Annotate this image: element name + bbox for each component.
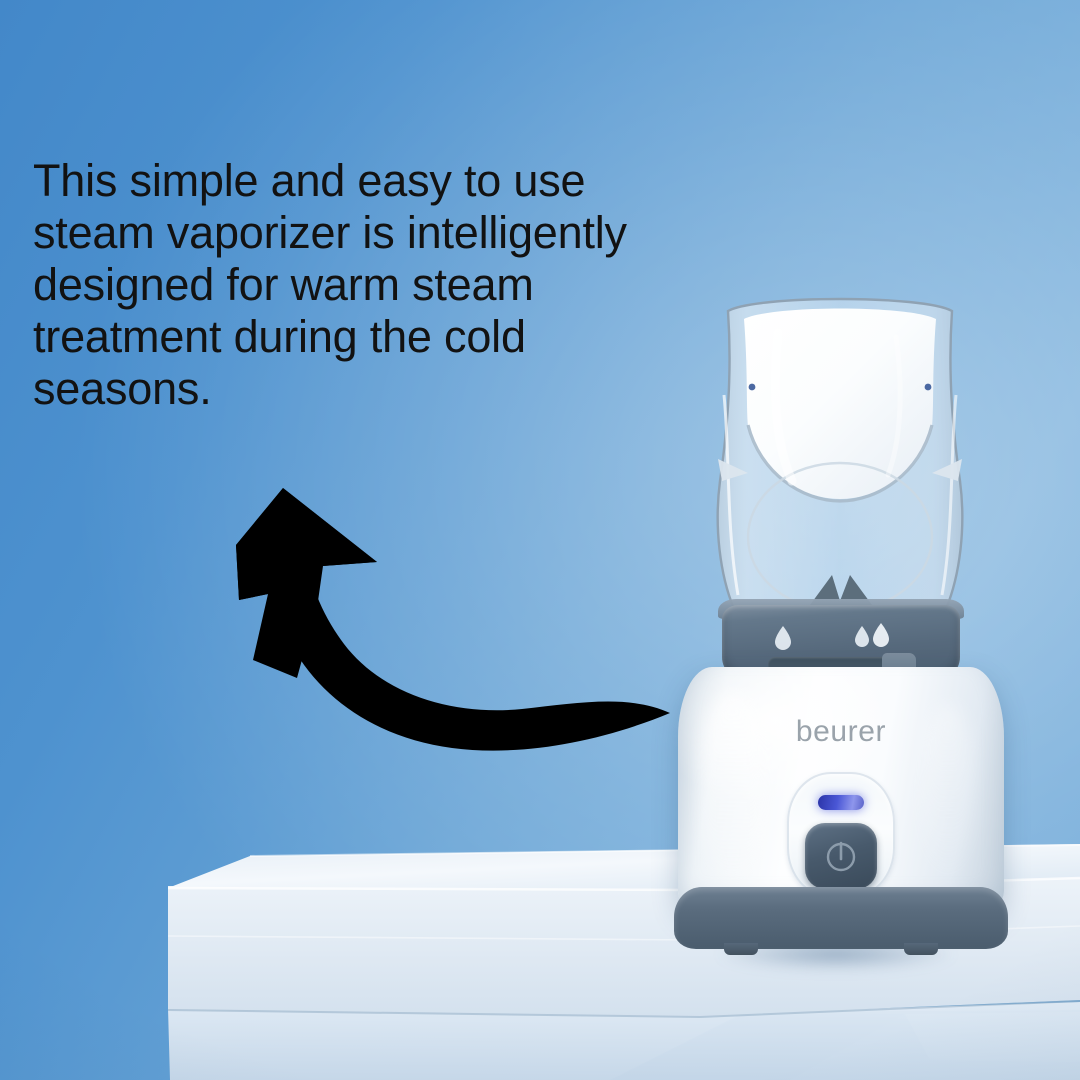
steam-mask bbox=[660, 275, 1020, 635]
base-foot-right bbox=[904, 943, 938, 955]
base-band bbox=[674, 887, 1008, 949]
brand-logo: beurer bbox=[660, 715, 1022, 749]
headline-text: This simple and easy to use steam vapori… bbox=[33, 155, 713, 415]
droplet-single-icon bbox=[770, 623, 796, 653]
product-steam-vaporizer[interactable]: beurer bbox=[660, 275, 1020, 975]
droplet-multi-icon bbox=[850, 621, 896, 653]
power-symbol-icon bbox=[823, 837, 859, 875]
base-foot-left bbox=[724, 943, 758, 955]
promo-canvas: This simple and easy to use steam vapori… bbox=[0, 0, 1080, 1080]
status-led bbox=[818, 795, 864, 810]
